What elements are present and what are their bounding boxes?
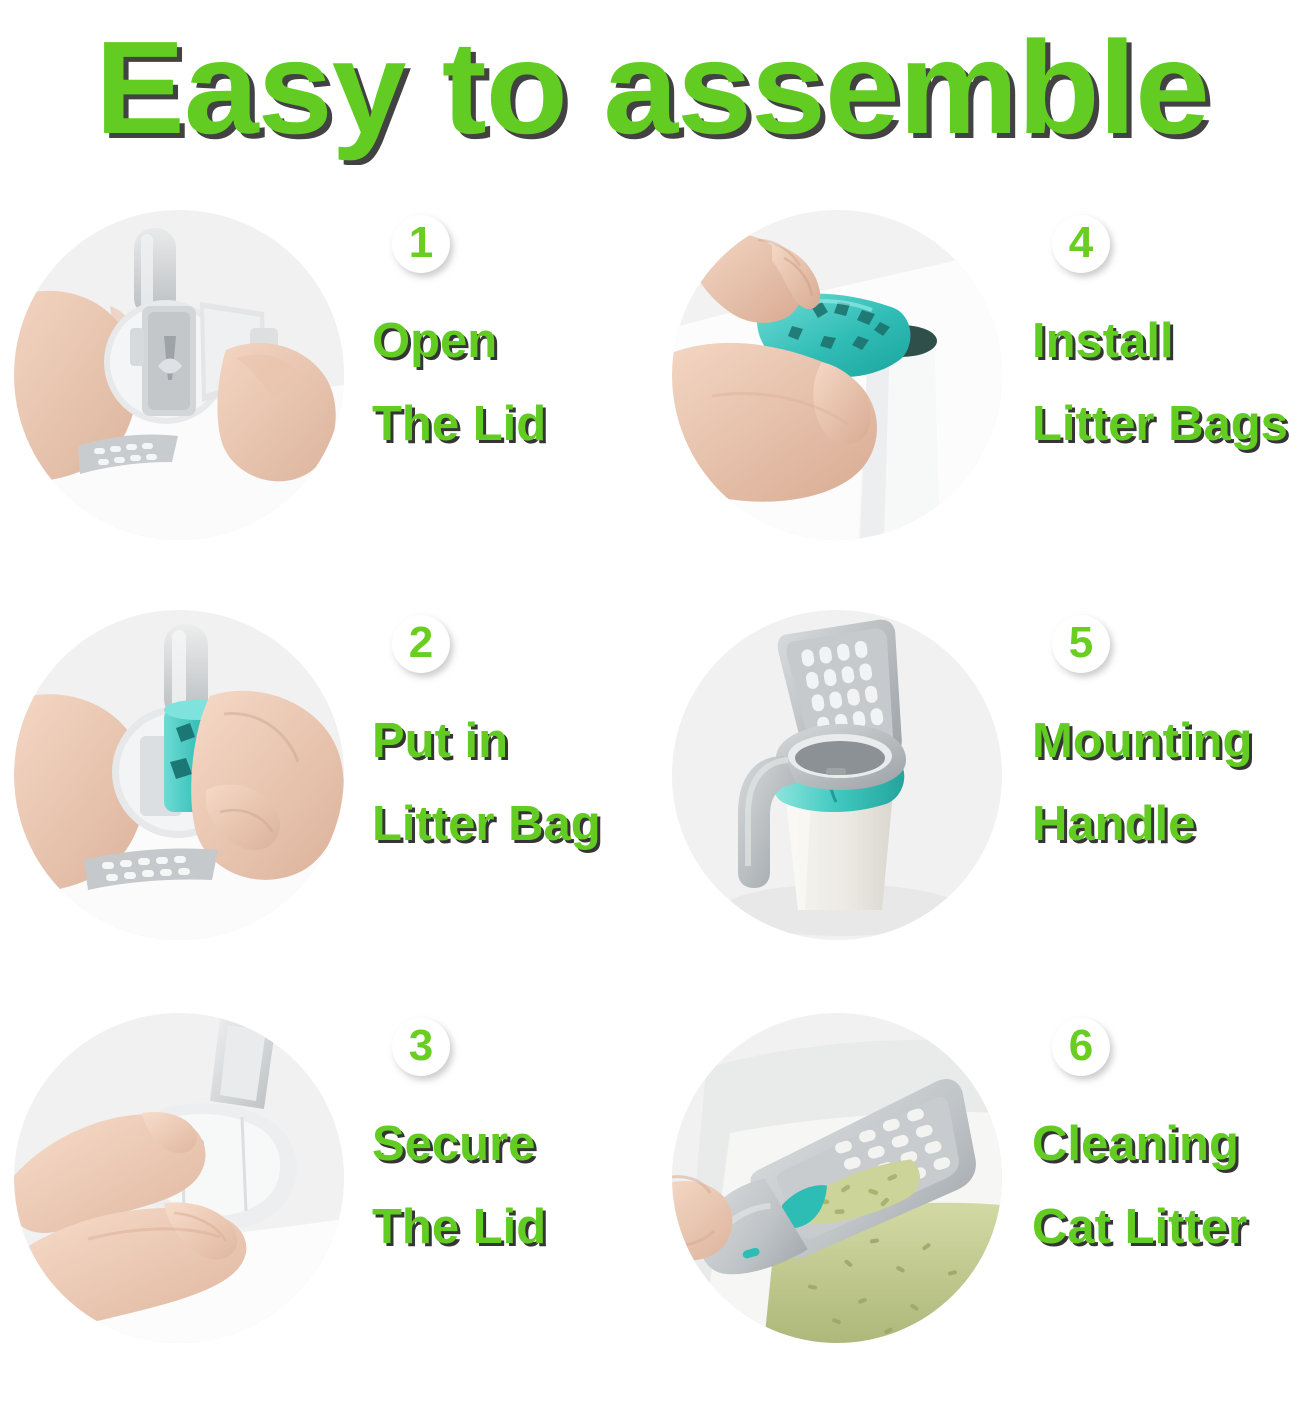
step-card-4: 4 Install Litter Bags [652,175,1304,575]
step-label-3-line1: Secure [368,1120,535,1169]
step-number-2: 2 [409,621,433,665]
step-label-4-line2: Litter Bags [1028,400,1288,449]
step-label-5-line2: Handle [1028,800,1195,849]
photo-secure-the-lid [14,1013,344,1343]
step-card-6: 6 Cleaning Cat Litter [652,975,1304,1381]
step-text-6: 6 Cleaning Cat Litter [1002,1008,1304,1348]
step-badge-3: 3 [392,1018,450,1076]
step-card-1: 1 Open The Lid [0,175,652,575]
step-label-3-line2: The Lid [368,1203,546,1252]
step-text-5: 5 Mounting Handle [1002,605,1304,945]
step-card-2: 2 Put in Litter Bag [0,575,652,975]
step-number-4: 4 [1069,221,1093,265]
step-label-1-line2: The Lid [368,400,546,449]
step-label-1-line1: Open [368,317,497,366]
step-label-5-line1: Mounting [1028,717,1252,766]
page-title: Easy to assemble [95,22,1209,154]
step-text-1: 1 Open The Lid [344,205,652,545]
step-label-6-line1: Cleaning [1028,1120,1239,1169]
step-number-1: 1 [409,221,433,265]
step-label-2-line1: Put in [368,717,508,766]
assembly-steps-grid: 1 Open The Lid [0,175,1304,1381]
header: Easy to assemble [0,0,1304,175]
photo-put-in-litter-bag [14,610,344,940]
step-label-6-line2: Cat Litter [1028,1203,1247,1252]
photo-cleaning-cat-litter [672,1013,1002,1343]
step-text-4: 4 Install Litter Bags [1002,205,1304,545]
photo-mounting-handle [672,610,1002,940]
step-number-5: 5 [1069,621,1093,665]
step-text-2: 2 Put in Litter Bag [344,605,652,945]
step-badge-1: 1 [392,215,450,273]
step-badge-5: 5 [1052,615,1110,673]
step-badge-2: 2 [392,615,450,673]
step-label-2-line2: Litter Bag [368,800,601,849]
step-badge-4: 4 [1052,215,1110,273]
step-number-6: 6 [1069,1024,1093,1068]
step-number-3: 3 [409,1024,433,1068]
step-text-3: 3 Secure The Lid [344,1008,652,1348]
step-card-3: 3 Secure The Lid [0,975,652,1381]
step-badge-6: 6 [1052,1018,1110,1076]
step-card-5: 5 Mounting Handle [652,575,1304,975]
step-label-4-line1: Install [1028,317,1174,366]
photo-install-litter-bags [672,210,1002,540]
photo-open-the-lid [14,210,344,540]
